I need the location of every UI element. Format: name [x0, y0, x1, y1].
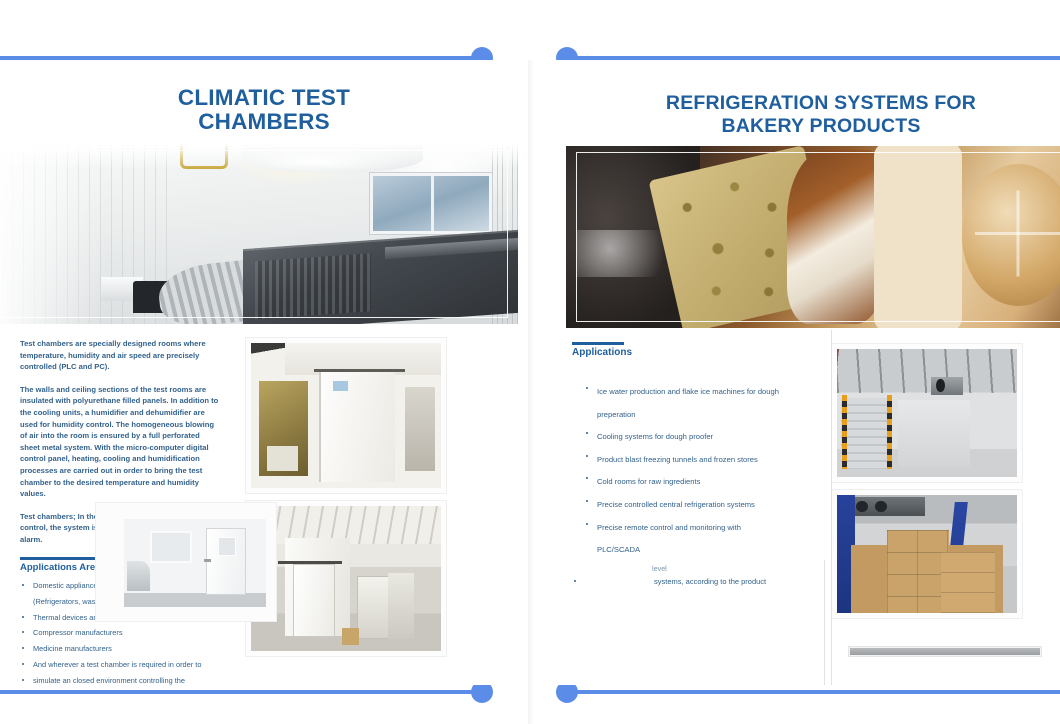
bullet-dot-icon — [586, 455, 588, 457]
list-item-label: Precise remote control and monitoring wi… — [597, 523, 741, 532]
refrigerated-warehouse-thumbnail — [832, 490, 1022, 618]
list-item-label: Cold rooms for raw ingredients — [597, 477, 700, 486]
list-item-label: Product blast freezing tunnels and froze… — [597, 455, 758, 464]
cold-room-thumbnail-2 — [246, 501, 446, 656]
applications-heading: Applications — [572, 347, 820, 358]
bullet-dot-icon — [22, 584, 24, 586]
list-item-label: Precise controlled central refrigeration… — [597, 500, 755, 509]
occluded-fragment-1: level — [652, 564, 667, 573]
list-item-label: Ice water production and flake ice machi… — [597, 387, 779, 396]
column-divider-inner — [824, 560, 825, 685]
bullet-dot-icon — [586, 500, 588, 502]
bottom-right-divider-rule — [575, 690, 1060, 694]
applications-list: Ice water production and flake ice machi… — [572, 363, 820, 562]
right-content-columns: Applications Ice water production and fl… — [556, 328, 1060, 626]
left-paragraph-1: Test chambers are specially designed roo… — [20, 338, 220, 373]
list-item: Cooling systems for dough proofer — [584, 426, 820, 449]
list-item-label: Medicine manufacturers — [33, 644, 112, 653]
list-item-label: simulate an closed environment controlli… — [33, 676, 185, 685]
list-item: Precise remote control and monitoring wi… — [584, 517, 820, 562]
left-paragraph-2: The walls and ceiling sections of the te… — [20, 384, 220, 500]
list-item: Precise controlled central refrigeration… — [584, 494, 820, 517]
list-item-continuation: preperation — [597, 404, 820, 427]
left-page-edge-shadow — [528, 60, 534, 724]
bullet-dot-icon — [586, 432, 588, 434]
list-item: Product blast freezing tunnels and froze… — [584, 449, 820, 472]
bullet-dot-icon — [22, 663, 24, 665]
list-item-label: Cooling systems for dough proofer — [597, 432, 713, 441]
bullet-dot-icon — [22, 647, 24, 649]
bullet-dot-icon — [586, 387, 588, 389]
bakery-products-hero-image — [566, 146, 1060, 328]
list-item-continuation: PLC/SCADA — [597, 539, 820, 562]
list-item: And wherever a test chamber is required … — [20, 657, 220, 673]
list-item-label: And wherever a test chamber is required … — [33, 660, 201, 669]
bullet-dot-icon — [22, 679, 24, 681]
applications-accent-bar — [572, 342, 624, 345]
occluded-text-region: level systems, according to the product — [572, 564, 820, 604]
left-page-title: CLIMATIC TEST CHAMBERS — [0, 60, 528, 134]
bullet-dot-icon — [586, 523, 588, 525]
cold-storage-corridor-thumbnail — [832, 344, 1022, 482]
right-page-title: REFRIGERATION SYSTEMS FOR BAKERY PRODUCT… — [556, 60, 1060, 138]
bottom-left-divider-rule — [0, 690, 482, 694]
right-slide-page: REFRIGERATION SYSTEMS FOR BAKERY PRODUCT… — [556, 60, 1060, 685]
bullet-dot-icon — [22, 616, 24, 618]
applications-areas-accent-bar — [20, 557, 104, 560]
column-divider-left — [831, 330, 832, 685]
bullet-dot-icon — [574, 580, 576, 582]
list-item: simulate an closed environment controlli… — [20, 673, 220, 685]
horizontal-scrollbar[interactable] — [848, 646, 1042, 657]
list-item: Ice water production and flake ice machi… — [584, 381, 820, 426]
bullet-dot-icon — [586, 477, 588, 479]
white-cold-room-thumbnail — [96, 503, 276, 621]
right-text-column: Applications Ice water production and fl… — [556, 328, 826, 626]
list-item: Compressor manufacturers — [20, 625, 220, 641]
bullet-dot-icon — [22, 631, 24, 633]
right-thumbnail-column — [826, 328, 1032, 626]
scrollbar-thumb[interactable] — [850, 648, 1040, 655]
list-item: Medicine manufacturers — [20, 641, 220, 657]
cold-room-thumbnail-1 — [246, 338, 446, 493]
list-item: Cold rooms for raw ingredients — [584, 471, 820, 494]
climatic-chamber-hero-image — [0, 144, 518, 324]
occluded-fragment-2: systems, according to the product — [654, 577, 766, 586]
list-item-label: Compressor manufacturers — [33, 628, 123, 637]
